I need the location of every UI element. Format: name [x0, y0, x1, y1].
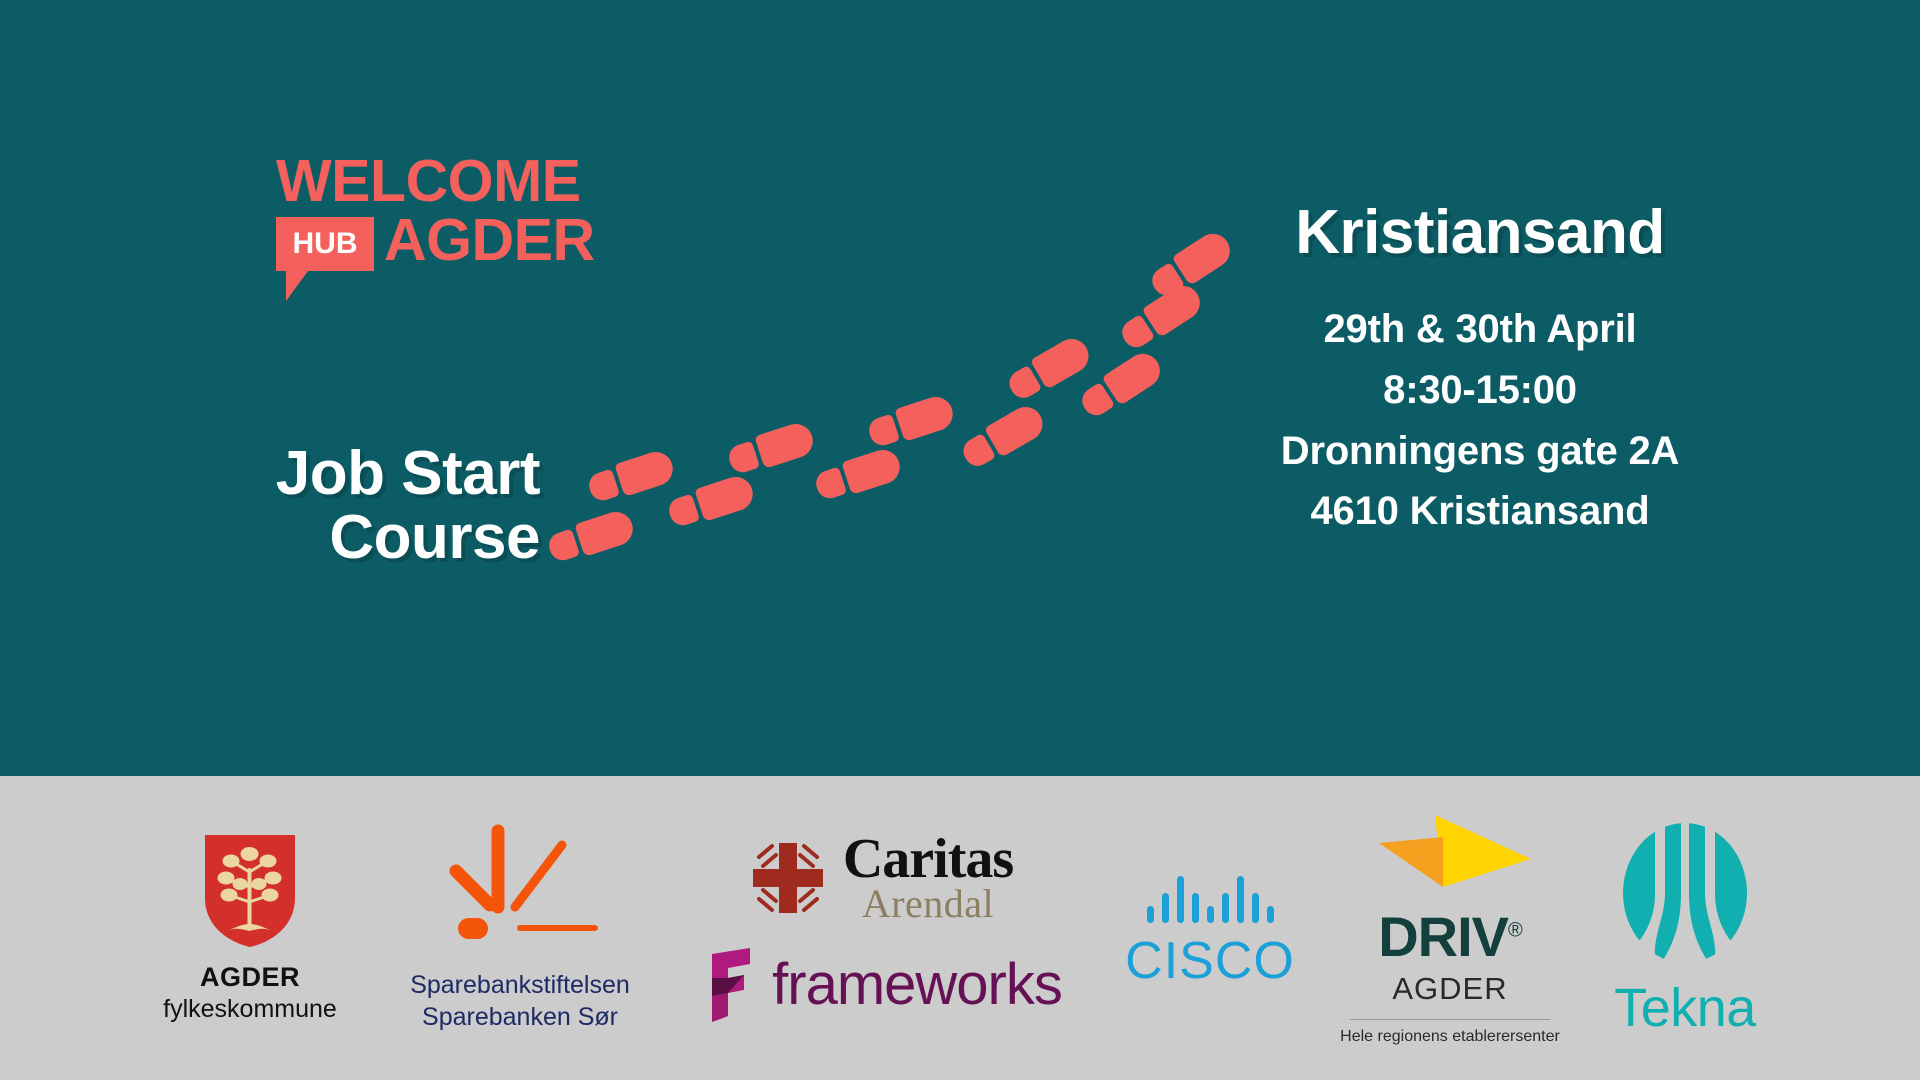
- orange-sunburst-icon: [420, 823, 620, 955]
- sponsor-driv-divider: [1350, 1019, 1550, 1020]
- sponsor-driv-name: DRIV®: [1378, 909, 1522, 965]
- footprint-9: [1076, 347, 1167, 422]
- footprint-heel: [866, 414, 900, 449]
- footprint-sole: [1030, 333, 1095, 390]
- footprint-heel: [546, 529, 580, 564]
- event-date: 29th & 30th April: [1200, 299, 1760, 360]
- footprint-7: [957, 401, 1048, 473]
- event-poster: WELCOME HUB AGDER Job Start Course Krist…: [0, 0, 1920, 1080]
- logo-bubble-tail-icon: [286, 271, 308, 301]
- footprint-3: [665, 473, 757, 532]
- logo-agder-text: AGDER: [384, 211, 595, 270]
- frameworks-f-icon: [698, 946, 758, 1024]
- sponsor-frameworks-name: frameworks: [772, 956, 1062, 1014]
- sponsor-cisco-name: CISCO: [1125, 935, 1295, 987]
- footprint-4: [725, 420, 817, 479]
- sponsor-driv-subtitle: AGDER: [1392, 971, 1507, 1007]
- cisco-bar-1: [1147, 906, 1154, 923]
- footprint-sole: [984, 401, 1049, 458]
- logo-welcome-text: WELCOME: [276, 152, 626, 211]
- event-postal-city: 4610 Kristiansand: [1200, 481, 1760, 542]
- event-city: Kristiansand: [1200, 200, 1760, 265]
- cisco-bar-5: [1207, 906, 1214, 923]
- hero-section: WELCOME HUB AGDER Job Start Course Krist…: [0, 0, 1920, 776]
- footprint-2: [585, 448, 677, 507]
- cisco-bar-6: [1222, 893, 1229, 923]
- logo-hub-text: HUB: [293, 229, 358, 259]
- sponsor-driv-registered: ®: [1508, 919, 1522, 941]
- footprint-sole: [574, 508, 637, 557]
- footprint-10: [1116, 279, 1207, 354]
- sponsor-caritas-name: Caritas: [843, 832, 1013, 887]
- sponsor-driv-agder: DRIV® AGDER Hele regionens etablerersent…: [1325, 811, 1575, 1046]
- sponsor-agder-subtitle: fylkeskommune: [163, 995, 337, 1024]
- event-time: 8:30-15:00: [1200, 360, 1760, 421]
- welcome-hub-agder-logo: WELCOME HUB AGDER: [276, 152, 626, 287]
- footprint-6: [865, 393, 957, 452]
- driv-arrow-icon: [1365, 811, 1535, 903]
- cisco-bar-8: [1252, 893, 1259, 923]
- footprint-sole: [1102, 347, 1167, 405]
- footprint-sole: [694, 473, 757, 522]
- footprint-8: [1003, 333, 1094, 405]
- cisco-bridge-icon: [1147, 869, 1274, 923]
- page-title: Job Start Course: [120, 442, 540, 570]
- footprint-5: [812, 446, 904, 505]
- footprint-heel: [586, 469, 620, 504]
- sponsor-sparebank-text: Sparebankstiftelsen Sparebanken Sør: [410, 969, 630, 1033]
- sponsor-sparebank-line-1: Sparebankstiftelsen: [410, 969, 630, 1001]
- footprint-sole: [754, 420, 817, 469]
- footprint-sole: [1142, 279, 1207, 337]
- sponsor-caritas-words: Caritas Arendal: [843, 832, 1013, 925]
- sponsor-bar: AGDER fylkeskommune Sparebankstiftelsen …: [0, 776, 1920, 1080]
- footprint-sole: [841, 446, 904, 495]
- sponsor-cisco: CISCO: [1095, 869, 1325, 987]
- cisco-bar-2: [1162, 893, 1169, 923]
- sponsor-tekna: Tekna: [1575, 821, 1795, 1035]
- cisco-bar-7: [1237, 876, 1244, 923]
- cisco-bar-4: [1192, 893, 1199, 923]
- footprint-heel: [813, 467, 847, 502]
- event-detail-lines: 29th & 30th April 8:30-15:00 Dronningens…: [1200, 299, 1760, 542]
- sponsor-caritas-frameworks-group: Caritas Arendal frameworks: [665, 832, 1095, 1025]
- sponsor-driv-wordmark: DRIV: [1378, 905, 1508, 968]
- shield-oak-tree-icon: [202, 832, 298, 950]
- footprint-sole: [614, 448, 677, 497]
- footprint-heel: [959, 433, 996, 471]
- cisco-bar-3: [1177, 876, 1184, 923]
- footprint-sole: [894, 393, 957, 442]
- event-details: Kristiansand 29th & 30th April 8:30-15:0…: [1200, 200, 1760, 542]
- footprint-heel: [666, 494, 700, 529]
- sponsor-tekna-name: Tekna: [1614, 981, 1756, 1035]
- sponsor-caritas-subtitle: Arendal: [862, 884, 994, 924]
- headline-line-1: Job Start: [120, 442, 540, 506]
- caritas-cross-icon: [747, 837, 829, 919]
- footprint-1: [545, 508, 637, 567]
- tekna-circle-icon: [1619, 821, 1751, 971]
- logo-hub-speech-bubble-icon: HUB: [276, 217, 374, 271]
- footprint-heel: [1005, 365, 1042, 403]
- headline-line-2: Course: [120, 506, 540, 570]
- sponsor-caritas-arendal: Caritas Arendal: [747, 832, 1013, 925]
- footprint-heel: [1147, 262, 1185, 300]
- sponsor-sparebank-line-2: Sparebanken Sør: [410, 1001, 630, 1033]
- sponsor-agder-name: AGDER: [200, 962, 300, 993]
- sponsor-sparebankstiftelsen: Sparebankstiftelsen Sparebanken Sør: [375, 823, 665, 1033]
- sponsor-driv-tagline: Hele regionens etablerersenter: [1340, 1028, 1560, 1046]
- cisco-bar-9: [1267, 906, 1274, 923]
- sponsor-frameworks: frameworks: [698, 946, 1062, 1024]
- sponsor-agder-fylkeskommune: AGDER fylkeskommune: [125, 832, 375, 1024]
- footprint-heel: [726, 441, 760, 476]
- logo-second-row: HUB AGDER: [276, 217, 626, 297]
- event-street: Dronningens gate 2A: [1200, 421, 1760, 482]
- footprint-heel: [1077, 382, 1115, 420]
- footprint-heel: [1117, 314, 1155, 352]
